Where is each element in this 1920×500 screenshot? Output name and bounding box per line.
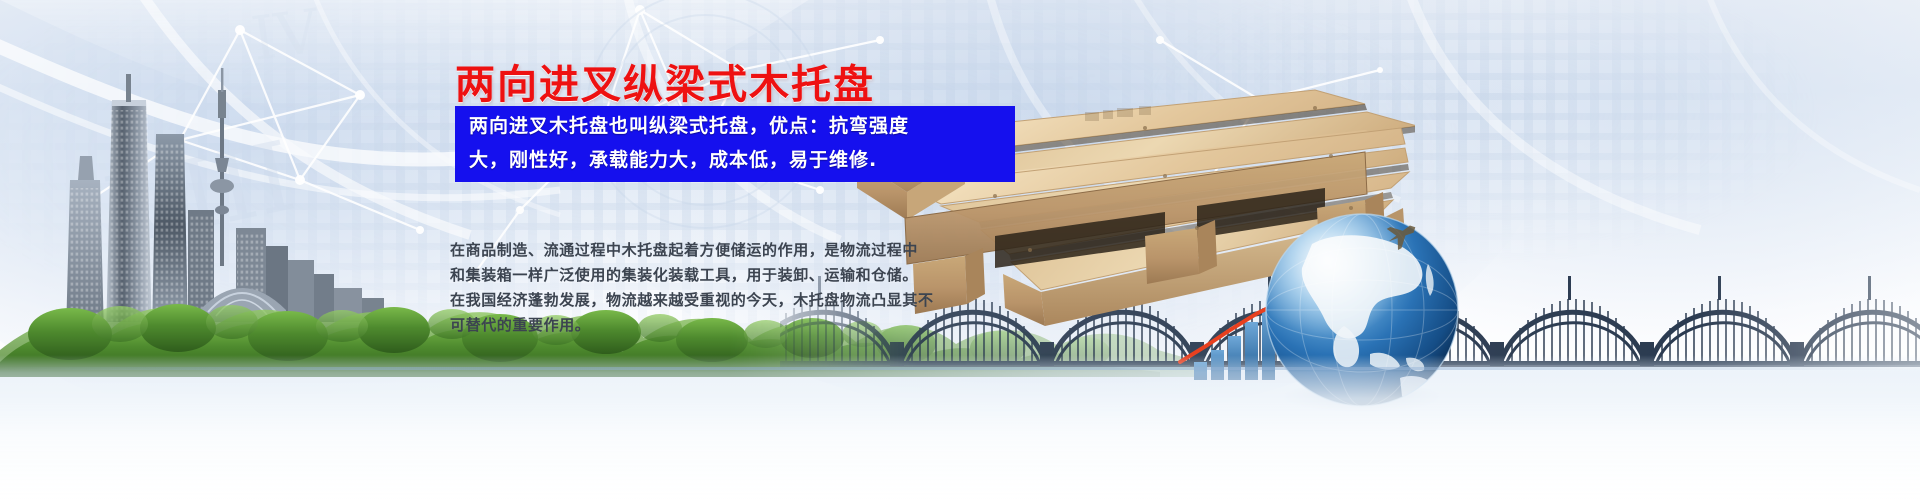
description-line-4: 可替代的重要作用。 <box>450 313 880 338</box>
pixel-texture-right <box>1150 0 1920 300</box>
description-line-3: 在我国经济蓬勃发展，物流越来越受重视的今天，木托盘物流凸显其不 <box>450 288 880 313</box>
highlight-box: 两向进叉木托盘也叫纵梁式托盘，优点：抗弯强度 大，刚性好，承载能力大，成本低，易… <box>455 106 1015 182</box>
description-paragraph: 在商品制造、流通过程中木托盘起着方便储运的作用，是物流过程中 和集装箱一样广泛使… <box>450 238 880 338</box>
highlight-line-1: 两向进叉木托盘也叫纵梁式托盘，优点：抗弯强度 <box>469 109 1001 143</box>
page-title: 两向进叉纵梁式木托盘 <box>455 52 875 110</box>
waterline <box>0 367 1920 370</box>
description-line-2: 和集装箱一样广泛使用的集装化装载工具，用于装卸、运输和仓储。 <box>450 263 880 288</box>
highlight-line-2: 大，刚性好，承载能力大，成本低，易于维修. <box>469 143 1001 177</box>
description-line-1: 在商品制造、流通过程中木托盘起着方便储运的作用，是物流过程中 <box>450 238 880 263</box>
water-reflection <box>0 355 1920 500</box>
product-banner: VIII XII IV X <box>0 0 1920 500</box>
